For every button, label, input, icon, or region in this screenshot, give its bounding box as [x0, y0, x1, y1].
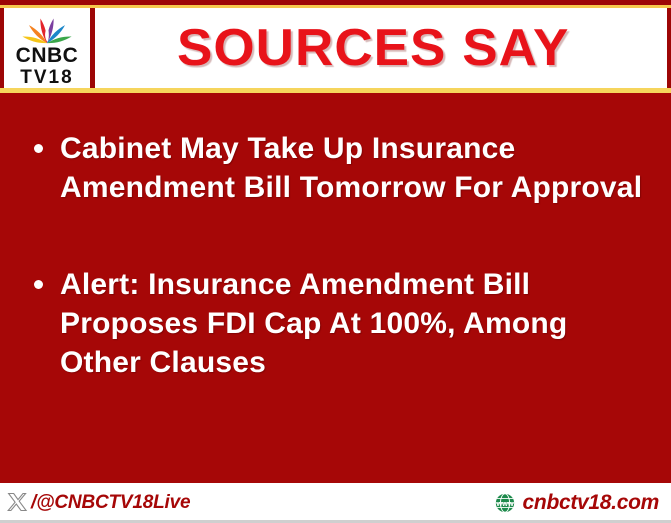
website-text: cnbctv18.com	[523, 491, 659, 515]
bullet-dot-icon	[34, 280, 43, 289]
headline-panel: Cabinet May Take Up Insurance Amendment …	[0, 93, 671, 483]
logo-text-tv18: TV18	[20, 68, 73, 87]
x-twitter-icon	[6, 491, 30, 515]
broadcast-lower-third-graphic: CNBC TV18 SOURCES SAY Cabinet May Take U…	[0, 0, 671, 523]
headline-text-1: Cabinet May Take Up Insurance Amendment …	[60, 132, 642, 204]
banner-title-container: SOURCES SAY	[95, 8, 667, 88]
network-logo: CNBC TV18	[4, 8, 90, 88]
website-group: www cnbctv18.com	[494, 491, 659, 515]
social-handle-text: /@CNBCTV18Live	[31, 492, 190, 514]
nbc-peacock-icon	[19, 10, 75, 44]
www-globe-icon: www	[494, 492, 516, 514]
header-right-edge	[667, 8, 671, 88]
list-item: Cabinet May Take Up Insurance Amendment …	[30, 129, 645, 207]
list-item: Alert: Insurance Amendment Bill Proposes…	[30, 265, 645, 382]
headline-text-2: Alert: Insurance Amendment Bill Proposes…	[60, 268, 567, 379]
footer-bar: /@CNBCTV18Live www cnbctv18.com	[0, 483, 671, 523]
headline-list: Cabinet May Take Up Insurance Amendment …	[30, 129, 645, 382]
social-handle-group: /@CNBCTV18Live	[6, 491, 190, 515]
svg-text:www: www	[495, 499, 513, 508]
banner-header: CNBC TV18 SOURCES SAY	[0, 8, 671, 88]
bullet-dot-icon	[34, 144, 43, 153]
logo-text-cnbc: CNBC	[16, 45, 79, 66]
banner-title: SOURCES SAY	[177, 22, 586, 74]
